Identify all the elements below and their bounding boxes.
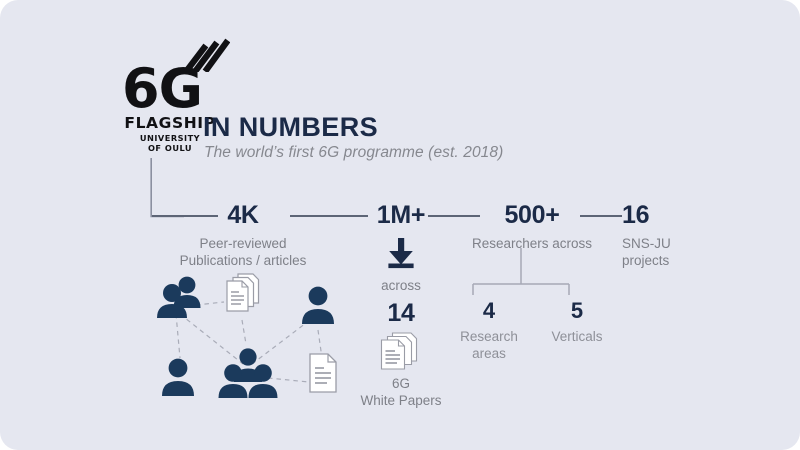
stat-label-line1: Peer-reviewed bbox=[178, 235, 308, 252]
single-person-icon bbox=[162, 359, 194, 396]
stacked-documents-icon bbox=[378, 331, 424, 378]
infographic-card: 6G FLAGSHIP UNIVERSITY OF OULU IN NUMBER… bbox=[0, 0, 800, 450]
stat-publications: 4K Peer-reviewed Publications / articles bbox=[178, 203, 308, 270]
page-title: IN NUMBERS bbox=[203, 112, 378, 143]
stacked-documents-icon bbox=[227, 274, 259, 311]
stat-value: 4K bbox=[178, 203, 308, 228]
stat-value: 16 bbox=[622, 203, 732, 228]
researcher-breakdown-bracket bbox=[460, 248, 582, 305]
across-connector-label: across bbox=[355, 278, 447, 293]
stat-label-line1: SNS-JU bbox=[622, 235, 732, 252]
breakdown-research-areas: 4 Research areas bbox=[443, 300, 535, 363]
breakdown-label: Research areas bbox=[443, 328, 535, 363]
stat-label-line2: Publications / articles bbox=[178, 252, 308, 269]
stat-downloads: 1M+ bbox=[355, 203, 447, 228]
two-people-group-icon bbox=[157, 277, 201, 318]
collaboration-network-diagram bbox=[150, 272, 365, 412]
page-subtitle: The world’s first 6G programme (est. 201… bbox=[204, 144, 503, 162]
stat-value: 1M+ bbox=[355, 203, 447, 228]
breakdown-value: 5 bbox=[531, 300, 623, 322]
breakdown-label: Verticals bbox=[531, 328, 623, 345]
breakdown-label-line2: areas bbox=[443, 345, 535, 362]
breakdown-verticals: 5 Verticals bbox=[531, 300, 623, 345]
breakdown-label-line1: Research bbox=[443, 328, 535, 345]
stat-label-line2: projects bbox=[622, 252, 732, 269]
breakdown-value: 4 bbox=[443, 300, 535, 322]
stat-label: SNS-JU projects bbox=[622, 235, 732, 270]
three-people-group-icon bbox=[219, 348, 278, 398]
breakdown-label-line1: Verticals bbox=[531, 328, 623, 345]
download-arrow-icon bbox=[386, 238, 416, 274]
single-document-icon bbox=[310, 354, 336, 392]
stat-sns-ju-projects: 16 SNS-JU projects bbox=[622, 203, 732, 270]
single-person-icon bbox=[302, 287, 334, 324]
white-papers-value: 14 bbox=[355, 299, 447, 328]
stat-value: 500+ bbox=[452, 203, 612, 228]
stat-researchers: 500+ Researchers across bbox=[452, 203, 612, 252]
wifi-signal-icon bbox=[184, 34, 230, 77]
stat-label: Peer-reviewed Publications / articles bbox=[178, 235, 308, 270]
